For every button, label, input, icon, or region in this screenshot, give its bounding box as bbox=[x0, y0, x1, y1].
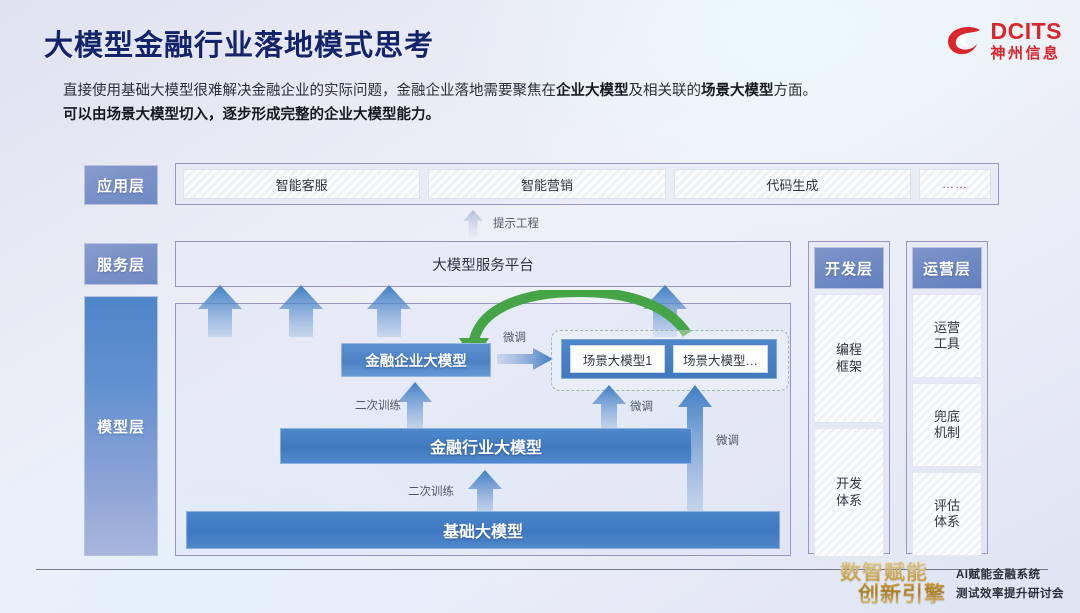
label-retrain-1: 二次训练 bbox=[355, 397, 401, 413]
event-slogan-line-1: 数智赋能 bbox=[840, 562, 946, 583]
app-item-1[interactable]: 智能营销 bbox=[428, 169, 665, 199]
event-name: AI赋能金融系统 测试效率提升研讨会 bbox=[956, 566, 1064, 601]
subtitle-line-1: 直接使用基础大模型很难解决金融企业的实际问题，金融企业落地需要聚焦在企业大模型及… bbox=[63, 80, 1023, 104]
subtitle-seg-c: 及相关联的 bbox=[629, 83, 702, 99]
subtitle-line-2: 可以由场景大模型切入，逐步形成完整的企业大模型能力。 bbox=[63, 104, 1023, 128]
subtitle-seg-e: 方面。 bbox=[774, 83, 818, 99]
slide-root: 大模型金融行业落地模式思考 直接使用基础大模型很难解决金融企业的实际问题，金融企… bbox=[0, 0, 1080, 613]
industry-model-bar[interactable]: 金融行业大模型 bbox=[280, 428, 692, 464]
event-name-line-2: 测试效率提升研讨会 bbox=[956, 585, 1064, 601]
service-layer-box[interactable]: 大模型服务平台 bbox=[175, 241, 791, 287]
page-subtitle: 直接使用基础大模型很难解决金融企业的实际问题，金融企业落地需要聚焦在企业大模型及… bbox=[63, 80, 1023, 128]
subtitle-seg-d: 场景大模型 bbox=[701, 83, 774, 99]
label-finetune-2: 微调 bbox=[630, 398, 653, 414]
finetune-horizontal-arrow-icon bbox=[497, 348, 553, 370]
scene-model-1[interactable]: 场景大模型… bbox=[673, 345, 768, 373]
dev-item-0[interactable]: 编程 框架 bbox=[814, 294, 884, 423]
scene-model-0[interactable]: 场景大模型1 bbox=[570, 345, 665, 373]
ops-item-2[interactable]: 评估 体系 bbox=[912, 472, 982, 556]
retrain-arrow-2-icon bbox=[468, 470, 502, 514]
dev-item-1[interactable]: 开发 体系 bbox=[814, 428, 884, 557]
prompt-engineering-arrow-icon bbox=[462, 210, 484, 238]
label-prompt-engineering: 提示工程 bbox=[493, 215, 539, 231]
scene-models-panel: 场景大模型1 场景大模型… bbox=[561, 339, 777, 379]
logo-text: DCITS 神州信息 bbox=[991, 20, 1063, 61]
subtitle-seg-b: 企业大模型 bbox=[556, 83, 629, 99]
page-title: 大模型金融行业落地模式思考 bbox=[44, 22, 434, 64]
event-slogan-line-2: 创新引擎 bbox=[840, 584, 946, 605]
event-name-line-1: AI赋能金融系统 bbox=[956, 566, 1064, 582]
label-finetune-1: 微调 bbox=[503, 329, 526, 345]
operations-layer-column: 运营层 运营 工具 兜底 机制 评估 体系 bbox=[906, 241, 988, 554]
layer-label-model[interactable]: 模型层 bbox=[84, 296, 158, 556]
ops-item-0[interactable]: 运营 工具 bbox=[912, 294, 982, 378]
logo-en-text: DCITS bbox=[991, 20, 1063, 43]
base-model-bar[interactable]: 基础大模型 bbox=[186, 511, 780, 549]
app-item-0[interactable]: 智能客服 bbox=[183, 169, 420, 199]
layer-label-development[interactable]: 开发层 bbox=[814, 247, 884, 289]
event-slogan: 数智赋能 创新引擎 bbox=[840, 562, 946, 605]
ops-item-2-label: 评估 体系 bbox=[934, 498, 960, 531]
enterprise-model-bar[interactable]: 金融企业大模型 bbox=[341, 343, 491, 377]
ops-item-0-label: 运营 工具 bbox=[934, 320, 960, 353]
dcits-swoosh-icon bbox=[944, 21, 984, 61]
layer-label-application[interactable]: 应用层 bbox=[84, 165, 158, 205]
dev-item-1-label: 开发 体系 bbox=[836, 476, 862, 509]
event-branding: 数智赋能 创新引擎 AI赋能金融系统 测试效率提升研讨会 bbox=[840, 562, 1064, 605]
label-finetune-3: 微调 bbox=[716, 432, 739, 448]
ops-item-1[interactable]: 兜底 机制 bbox=[912, 383, 982, 467]
layer-label-operations[interactable]: 运营层 bbox=[912, 247, 982, 289]
brand-logo: DCITS 神州信息 bbox=[944, 20, 1063, 61]
app-item-3-ellipsis[interactable]: …… bbox=[919, 169, 991, 199]
subtitle-seg-a: 直接使用基础大模型很难解决金融企业的实际问题，金融企业落地需要聚焦在 bbox=[63, 83, 556, 99]
label-retrain-2: 二次训练 bbox=[408, 483, 454, 499]
finetune-arrow-2-icon bbox=[592, 385, 626, 430]
ops-item-1-label: 兜底 机制 bbox=[934, 409, 960, 442]
application-layer-box: 智能客服 智能营销 代码生成 …… bbox=[175, 163, 999, 205]
app-item-2[interactable]: 代码生成 bbox=[674, 169, 911, 199]
layer-label-service[interactable]: 服务层 bbox=[84, 243, 158, 285]
logo-cn-text: 神州信息 bbox=[991, 46, 1063, 61]
dev-item-0-label: 编程 框架 bbox=[836, 342, 862, 375]
development-layer-column: 开发层 编程 框架 开发 体系 bbox=[808, 241, 890, 554]
retrain-arrow-1-icon bbox=[398, 382, 432, 430]
